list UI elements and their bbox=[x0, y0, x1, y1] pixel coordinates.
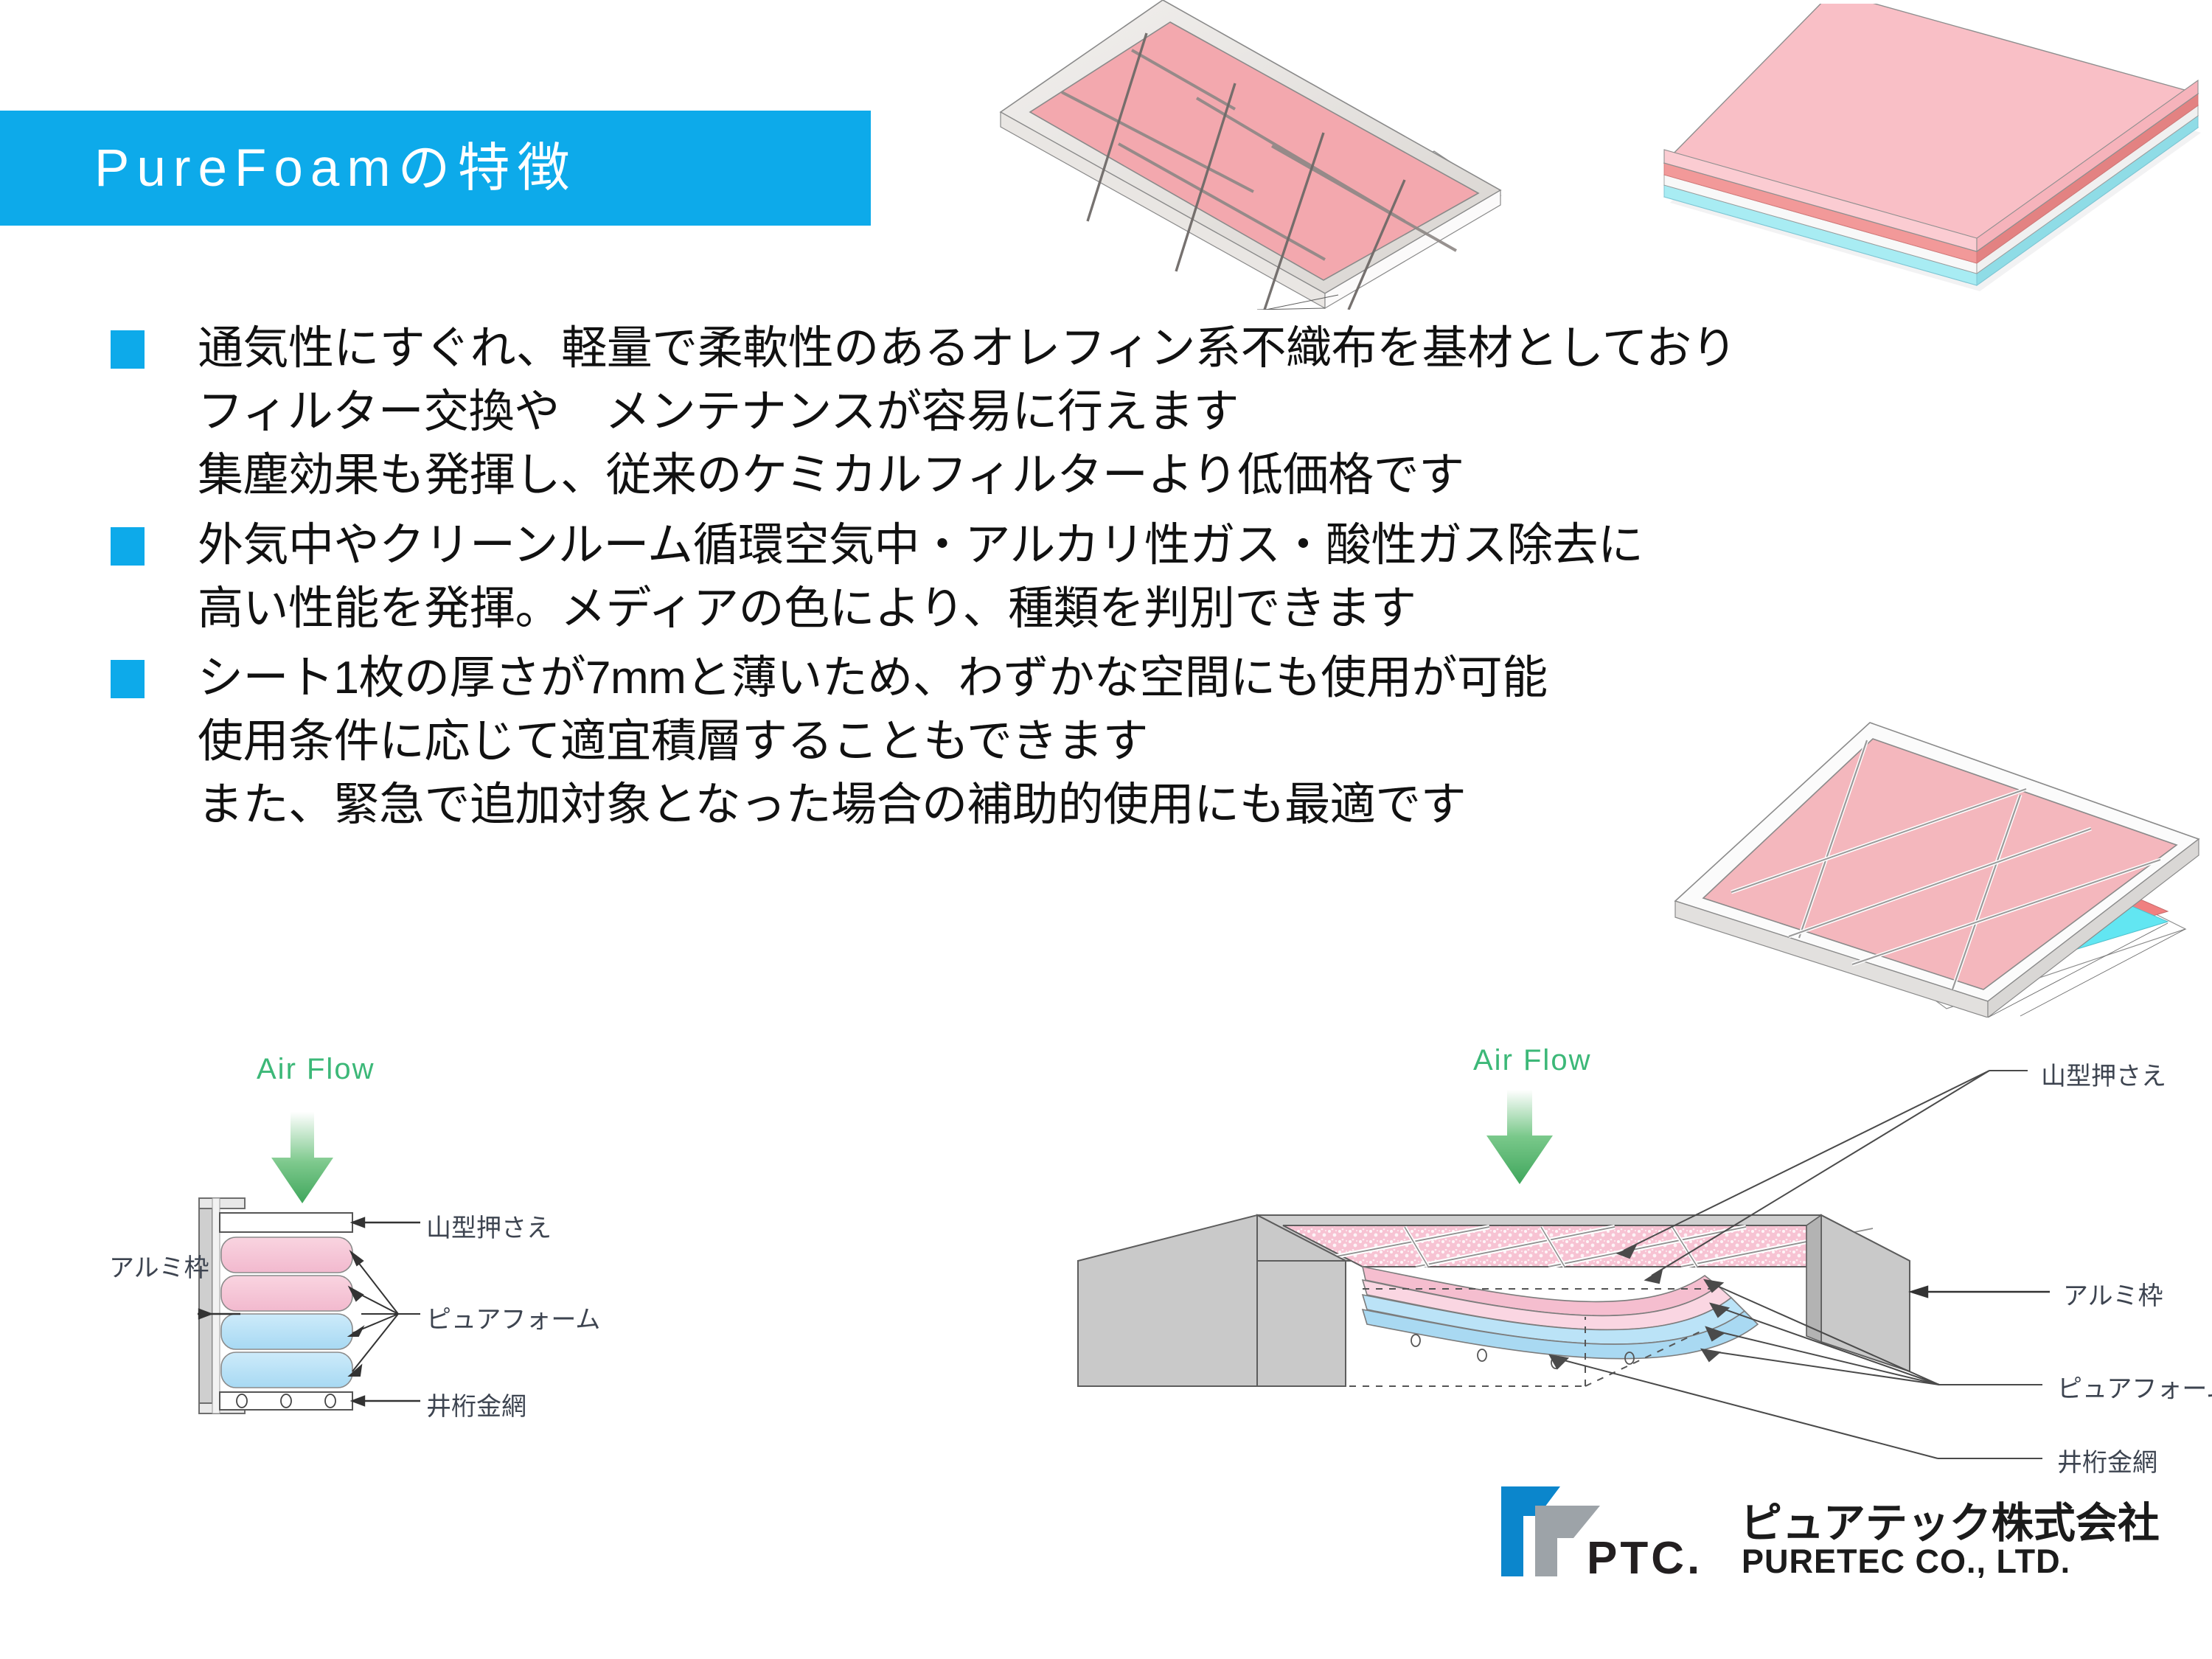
bullet-item-1: 通気性にすぐれ、軽量で柔軟性のあるオレフィン系不織布を基材としており フィルター… bbox=[111, 317, 1843, 508]
company-name-en: PURETEC CO., LTD. bbox=[1742, 1543, 2070, 1581]
leader-mesh-left bbox=[352, 1397, 420, 1405]
bullet-line: 使用条件に応じて適宜積層することもできます bbox=[198, 710, 1843, 773]
bullet-item-2-lines: 外気中やクリーンルーム循環空気中・アルカリ性ガス・酸性ガス除去に 高い性能を発揮… bbox=[111, 514, 1843, 641]
mesh-bar-left bbox=[220, 1392, 352, 1410]
callout-mesh-left: 井桁金網 bbox=[426, 1386, 526, 1422]
bullet-line: 外気中やクリーンルーム循環空気中・アルカリ性ガス・酸性ガス除去に bbox=[198, 514, 1843, 577]
bullet-item-1-lines: 通気性にすぐれ、軽量で柔軟性のあるオレフィン系不織布を基材としており フィルター… bbox=[111, 317, 1843, 508]
bullet-line: フィルター交換や メンテナンスが容易に行えます bbox=[198, 380, 1843, 444]
bullet-marker-icon bbox=[111, 527, 145, 566]
bullet-line: 集塵効果も発揮し、従来のケミカルフィルターより低価格です bbox=[198, 444, 1843, 507]
media-pink-2 bbox=[221, 1276, 352, 1311]
bullet-item-3-lines: シート1枚の厚さが7mmと薄いため、わずかな空間にも使用が可能 使用条件に応じて… bbox=[111, 647, 1843, 838]
bullet-line: シート1枚の厚さが7mmと薄いため、わずかな空間にも使用が可能 bbox=[198, 647, 1843, 710]
peeled-media-sheets-right bbox=[1363, 1267, 1758, 1368]
feature-bullet-list: 通気性にすぐれ、軽量で柔軟性のあるオレフィン系不織布を基材としており フィルター… bbox=[111, 317, 1843, 843]
airflow-arrow-left bbox=[271, 1112, 333, 1203]
foam-sheet-illustration-top-right bbox=[1618, 4, 2212, 299]
callout-foam-right: ピュアフォーム bbox=[2057, 1368, 2212, 1405]
callout-frame-right: アルミ枠 bbox=[2063, 1276, 2163, 1312]
page-title: PureFoamの特徴 bbox=[0, 142, 577, 195]
callout-press-left: 山型押さえ bbox=[426, 1208, 552, 1244]
press-bar-left bbox=[220, 1213, 352, 1232]
media-pink-1 bbox=[221, 1237, 352, 1273]
company-name-jp: ピュアテック株式会社 bbox=[1740, 1489, 2160, 1550]
cross-section-diagram-left: Air Flow bbox=[74, 1047, 1003, 1504]
bullet-item-3: シート1枚の厚さが7mmと薄いため、わずかな空間にも使用が可能 使用条件に応じて… bbox=[111, 647, 1843, 838]
cutaway-diagram-right: Air Flow bbox=[1069, 1032, 2212, 1504]
leader-mesh-right bbox=[1550, 1355, 2042, 1458]
bullet-line: 高い性能を発揮。メディアの色により、種類を判別できます bbox=[198, 577, 1843, 641]
bullet-marker-icon bbox=[111, 660, 145, 698]
title-banner: PureFoamの特徴 bbox=[0, 111, 871, 226]
bullet-line: 通気性にすぐれ、軽量で柔軟性のあるオレフィン系不織布を基材としており bbox=[198, 317, 1843, 380]
bullet-line: また、緊急で追加対象となった場合の補助的使用にも最適です bbox=[198, 773, 1843, 837]
callout-mesh-right: 井桁金網 bbox=[2057, 1442, 2157, 1478]
leader-press-left bbox=[352, 1218, 420, 1227]
media-blue-1 bbox=[221, 1314, 352, 1349]
leader-foam-left bbox=[349, 1252, 420, 1376]
media-blue-2 bbox=[221, 1352, 352, 1388]
callout-frame-left-text: アルミ枠 bbox=[109, 1248, 209, 1284]
pleated-filter-illustration-top-left bbox=[992, 0, 1523, 310]
bullet-marker-icon bbox=[111, 330, 145, 369]
company-logo: PTC. ピュアテック株式会社 PURETEC CO., LTD. bbox=[1497, 1489, 2197, 1600]
bullet-item-2: 外気中やクリーンルーム循環空気中・アルカリ性ガス・酸性ガス除去に 高い性能を発揮… bbox=[111, 514, 1843, 641]
callout-foam-left: ピュアフォーム bbox=[426, 1299, 600, 1335]
airflow-arrow-right bbox=[1486, 1090, 1553, 1184]
callout-press-right: 山型押さえ bbox=[2041, 1056, 2166, 1092]
logo-wordmark: PTC. bbox=[1587, 1532, 1703, 1585]
leader-frame-right bbox=[1911, 1287, 2050, 1297]
